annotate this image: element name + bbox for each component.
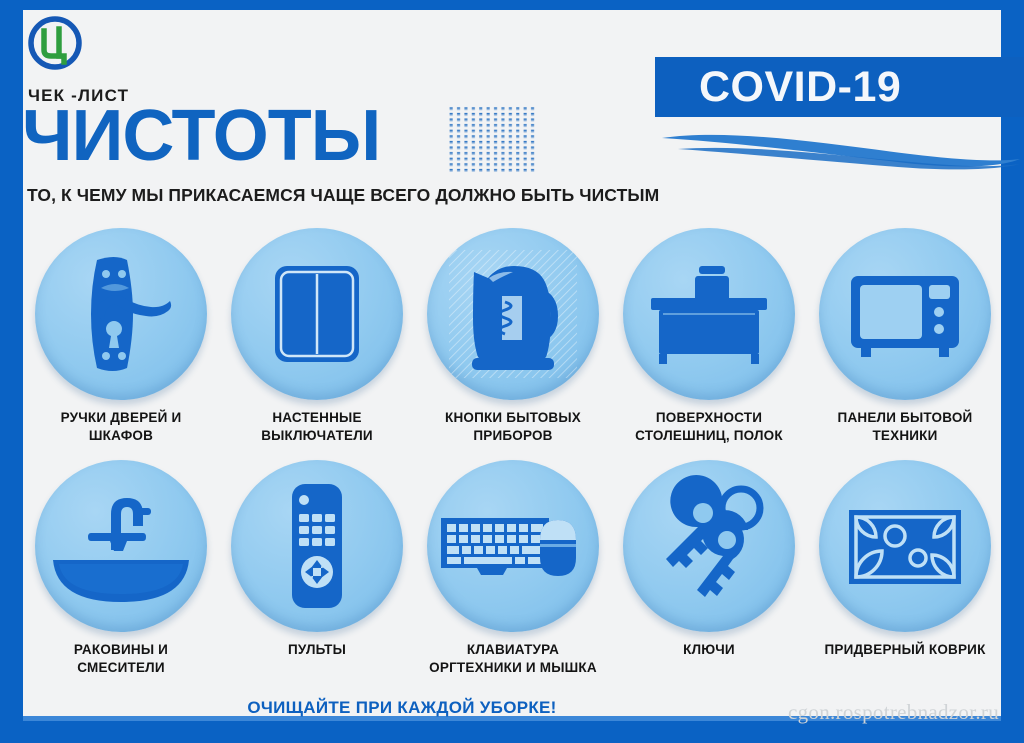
disc-wrap (623, 228, 795, 400)
disc-wrap (231, 228, 403, 400)
page-title: ЧИСТОТЫ (22, 100, 380, 172)
item-label: РАКОВИНЫ ИСМЕСИТЕЛИ (23, 641, 219, 677)
item-label: ПУЛЬТЫ (219, 641, 415, 659)
footer-cta-label: ОЧИЩАЙТЕ ПРИ КАЖДОЙ УБОРКЕ! (247, 698, 556, 717)
disc-wrap (819, 228, 991, 400)
checklist-item-remote[interactable]: ПУЛЬТЫ (219, 460, 415, 659)
countertop-icon (623, 228, 795, 400)
checklist-item-doormat[interactable]: ПРИДВЕРНЫЙ КОВРИК (807, 460, 1003, 659)
disc-wrap (819, 460, 991, 632)
poster-root: ЧЕК -ЛИСТ ЧИСТОТЫ ТО, К ЧЕМУ МЫ ПРИКАСАЕ… (0, 0, 1024, 743)
disc-wrap (231, 460, 403, 632)
item-label: ПАНЕЛИ БЫТОВОЙТЕХНИКИ (807, 409, 1003, 445)
doormat-icon (819, 460, 991, 632)
checklist-item-keys[interactable]: КЛЮЧИ (611, 460, 807, 659)
brush-wave-decoration (660, 130, 1024, 170)
item-label: НАСТЕННЫЕВЫКЛЮЧАТЕЛИ (219, 409, 415, 445)
dot-grid-decoration (448, 106, 536, 172)
watermark-url: cgon.rospotrebnadzor.ru (788, 700, 999, 725)
covid-banner-label: COVID-19 (699, 63, 901, 112)
checklist-item-sink[interactable]: РАКОВИНЫ ИСМЕСИТЕЛИ (23, 460, 219, 677)
sink-faucet-icon (35, 460, 207, 632)
disc-wrap (427, 228, 599, 400)
electric-kettle-icon (427, 228, 599, 400)
item-label: ПОВЕРХНОСТИСТОЛЕШНИЦ, ПОЛОК (611, 409, 807, 445)
page-subtitle: ТО, К ЧЕМУ МЫ ПРИКАСАЕМСЯ ЧАЩЕ ВСЕГО ДОЛ… (27, 185, 659, 206)
item-label: КНОПКИ БЫТОВЫХПРИБОРОВ (415, 409, 611, 445)
checklist-item-keyboard[interactable]: КЛАВИАТУРАОРГТЕХНИКИ И МЫШКА (415, 460, 611, 677)
item-label: КЛАВИАТУРАОРГТЕХНИКИ И МЫШКА (415, 641, 611, 677)
item-label: ПРИДВЕРНЫЙ КОВРИК (807, 641, 1003, 659)
light-switch-icon (231, 228, 403, 400)
remote-control-icon (231, 460, 403, 632)
disc-wrap (35, 460, 207, 632)
door-handle-icon (35, 228, 207, 400)
rospotrebnadzor-logo (28, 16, 82, 70)
disc-wrap (427, 460, 599, 632)
checklist-item-door-handle[interactable]: РУЧКИ ДВЕРЕЙ ИШКАФОВ (23, 228, 219, 445)
microwave-icon (819, 228, 991, 400)
item-label: РУЧКИ ДВЕРЕЙ ИШКАФОВ (23, 409, 219, 445)
disc-wrap (35, 228, 207, 400)
checklist-item-kettle[interactable]: КНОПКИ БЫТОВЫХПРИБОРОВ (415, 228, 611, 445)
item-label: КЛЮЧИ (611, 641, 807, 659)
icon-grid: РУЧКИ ДВЕРЕЙ ИШКАФОВ НАСТЕННЫЕВЫКЛЮЧАТЕЛ… (23, 228, 1001, 678)
keys-icon (623, 460, 795, 632)
checklist-item-countertop[interactable]: ПОВЕРХНОСТИСТОЛЕШНИЦ, ПОЛОК (611, 228, 807, 445)
disc-wrap (623, 460, 795, 632)
checklist-item-light-switch[interactable]: НАСТЕННЫЕВЫКЛЮЧАТЕЛИ (219, 228, 415, 445)
covid-banner: COVID-19 (655, 57, 1024, 117)
keyboard-mouse-icon (427, 460, 599, 632)
checklist-item-microwave[interactable]: ПАНЕЛИ БЫТОВОЙТЕХНИКИ (807, 228, 1003, 445)
